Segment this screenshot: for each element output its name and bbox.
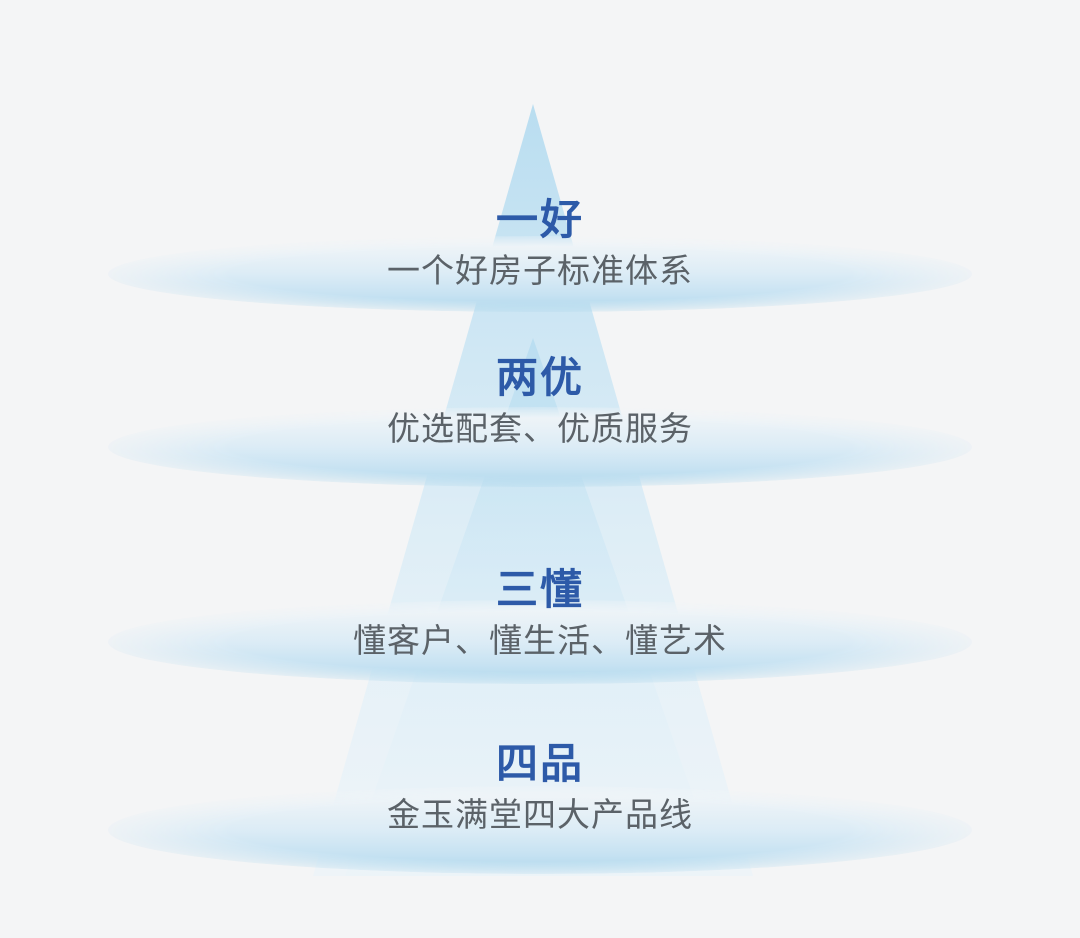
pyramid-level-3-title: 三懂 — [0, 566, 1080, 613]
pyramid-level-4-subtitle: 金玉满堂四大产品线 — [0, 795, 1080, 835]
pyramid-level-1-subtitle: 一个好房子标准体系 — [0, 251, 1080, 291]
pyramid-level-2-subtitle: 优选配套、优质服务 — [0, 409, 1080, 449]
pyramid-level-4: 四品 金玉满堂四大产品线 — [0, 740, 1080, 835]
pyramid-level-3-subtitle: 懂客户、懂生活、懂艺术 — [0, 621, 1080, 661]
pyramid-level-labels: 一好 一个好房子标准体系 两优 优选配套、优质服务 三懂 懂客户、懂生活、懂艺术… — [0, 0, 1080, 938]
pyramid-level-3: 三懂 懂客户、懂生活、懂艺术 — [0, 566, 1080, 661]
pyramid-level-2: 两优 优选配套、优质服务 — [0, 354, 1080, 449]
pyramid-level-1: 一好 一个好房子标准体系 — [0, 196, 1080, 291]
pyramid-level-4-title: 四品 — [0, 740, 1080, 787]
pyramid-level-1-title: 一好 — [0, 196, 1080, 243]
pyramid-level-2-title: 两优 — [0, 354, 1080, 401]
pyramid-diagram-canvas: 一好 一个好房子标准体系 两优 优选配套、优质服务 三懂 懂客户、懂生活、懂艺术… — [0, 0, 1080, 938]
